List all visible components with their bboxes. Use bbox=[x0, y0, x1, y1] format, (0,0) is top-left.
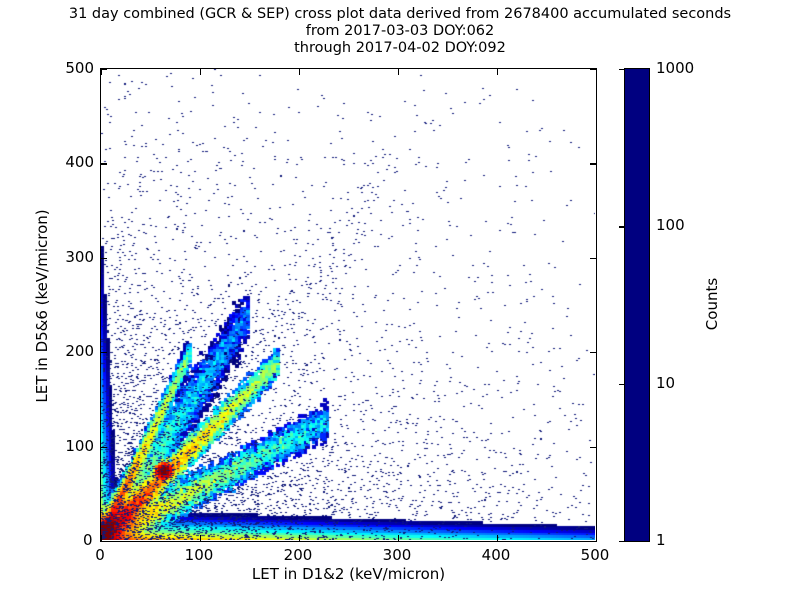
colorbar-label: Counts bbox=[703, 174, 721, 434]
y-axis-tick-labels: 100200300400500 bbox=[12, 0, 94, 600]
title-line-2: from 2017-03-03 DOY:062 bbox=[0, 23, 800, 40]
x-tick bbox=[200, 535, 201, 541]
colorbar-tick-label: 1000 bbox=[656, 59, 694, 77]
x-tick bbox=[200, 69, 201, 75]
x-tick bbox=[398, 69, 399, 75]
y-tick-label: 100 bbox=[14, 437, 94, 455]
figure-title: 31 day combined (GCR & SEP) cross plot d… bbox=[0, 6, 800, 57]
y-tick-label: 500 bbox=[14, 59, 94, 77]
y-tick bbox=[101, 163, 107, 164]
y-tick bbox=[590, 258, 596, 259]
plot-axes bbox=[100, 68, 597, 542]
colorbar bbox=[624, 68, 650, 542]
y-axis-label: LET in D5&6 (keV/micron) bbox=[33, 96, 51, 516]
x-tick-label: 300 bbox=[357, 546, 437, 564]
y-tick bbox=[101, 352, 107, 353]
x-axis-label: LET in D1&2 (keV/micron) bbox=[100, 565, 597, 583]
y-tick bbox=[590, 69, 596, 70]
x-tick bbox=[596, 69, 597, 75]
x-tick bbox=[497, 69, 498, 75]
y-origin-label: 0 bbox=[83, 531, 93, 549]
x-tick bbox=[596, 535, 597, 541]
x-tick-label: 500 bbox=[555, 546, 635, 564]
x-tick-label: 100 bbox=[159, 546, 239, 564]
colorbar-tick bbox=[619, 541, 625, 542]
title-line-3: through 2017-04-02 DOY:092 bbox=[0, 40, 800, 57]
colorbar-tick bbox=[619, 69, 625, 70]
y-tick-label: 200 bbox=[14, 342, 94, 360]
colorbar-tick-label: 1 bbox=[656, 531, 666, 549]
title-line-1: 31 day combined (GCR & SEP) cross plot d… bbox=[0, 6, 800, 23]
x-tick-label: 400 bbox=[456, 546, 536, 564]
colorbar-tick-label: 100 bbox=[656, 216, 685, 234]
y-tick bbox=[590, 541, 596, 542]
y-tick-label: 300 bbox=[14, 248, 94, 266]
x-tick bbox=[497, 535, 498, 541]
y-tick bbox=[101, 541, 107, 542]
x-tick bbox=[398, 535, 399, 541]
y-tick bbox=[101, 258, 107, 259]
y-tick bbox=[590, 163, 596, 164]
colorbar-gradient bbox=[625, 69, 649, 541]
colorbar-tick bbox=[619, 384, 625, 385]
x-tick bbox=[299, 535, 300, 541]
y-tick bbox=[101, 447, 107, 448]
x-tick bbox=[299, 69, 300, 75]
colorbar-tick-label: 10 bbox=[656, 374, 675, 392]
y-tick bbox=[590, 447, 596, 448]
x-tick-label: 200 bbox=[258, 546, 338, 564]
y-tick-label: 400 bbox=[14, 153, 94, 171]
y-tick bbox=[590, 352, 596, 353]
figure: 31 day combined (GCR & SEP) cross plot d… bbox=[0, 0, 800, 600]
colorbar-tick bbox=[619, 226, 625, 227]
y-tick bbox=[101, 69, 107, 70]
density-heatmap-canvas bbox=[101, 69, 595, 540]
